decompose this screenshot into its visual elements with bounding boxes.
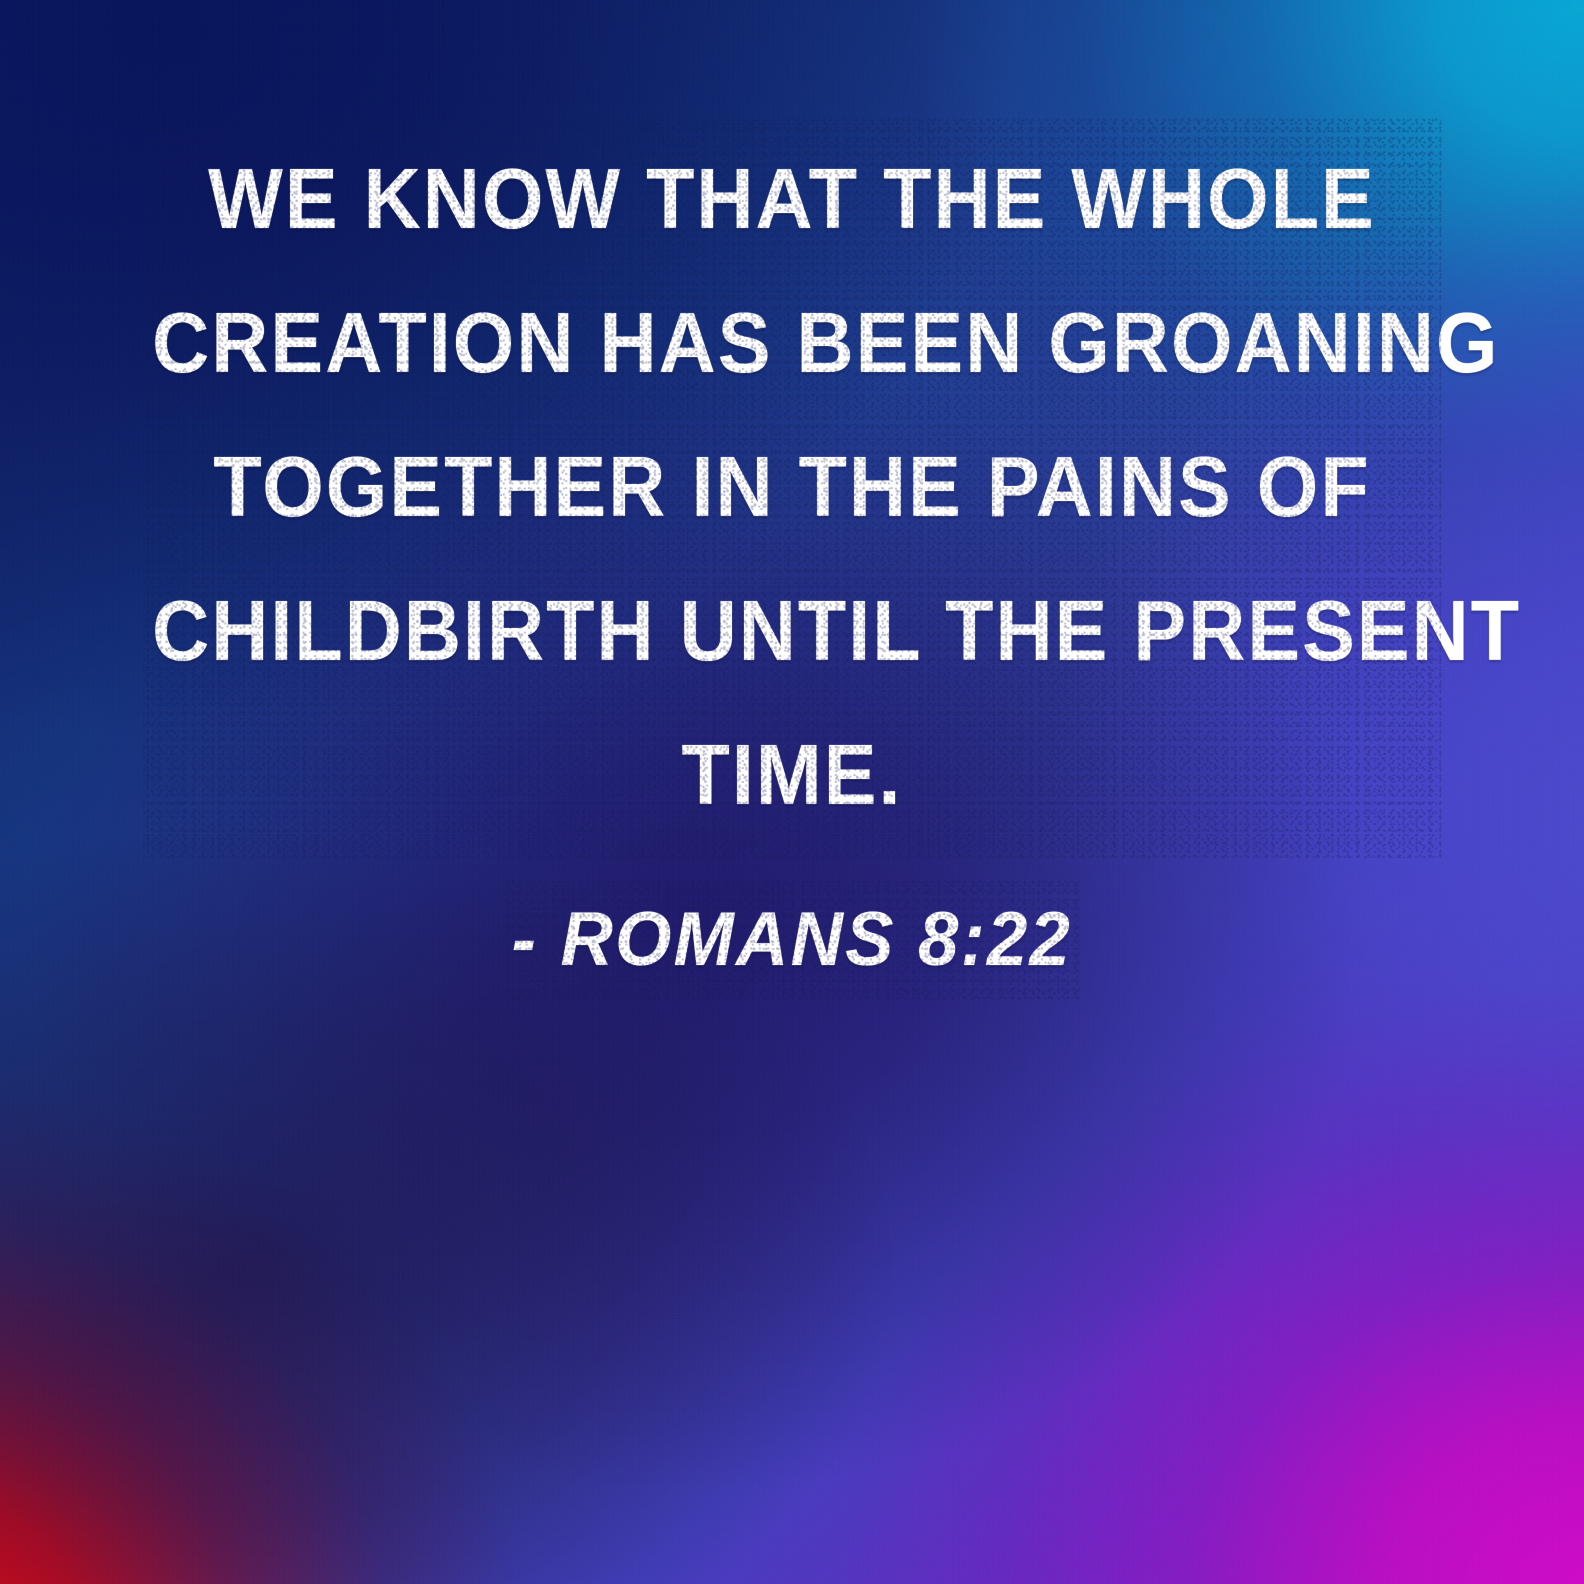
verse-line-3: TOGETHER IN THE PAINS OF xyxy=(152,416,1432,560)
verse-line-1: WE KNOW THAT THE WHOLE xyxy=(152,128,1432,272)
verse-image-card: WE KNOW THAT THE WHOLE CREATION HAS BEEN… xyxy=(0,0,1584,1584)
verse-line-5: TIME. xyxy=(152,704,1432,848)
verse-content: WE KNOW THAT THE WHOLE CREATION HAS BEEN… xyxy=(0,0,1584,1584)
verse-attribution: - ROMANS 8:22 xyxy=(512,890,1072,990)
verse-line-4: CHILDBIRTH UNTIL THE PRESENT xyxy=(152,560,1432,704)
verse-text-block: WE KNOW THAT THE WHOLE CREATION HAS BEEN… xyxy=(152,128,1432,848)
verse-line-2: CREATION HAS BEEN GROANING xyxy=(152,272,1432,416)
